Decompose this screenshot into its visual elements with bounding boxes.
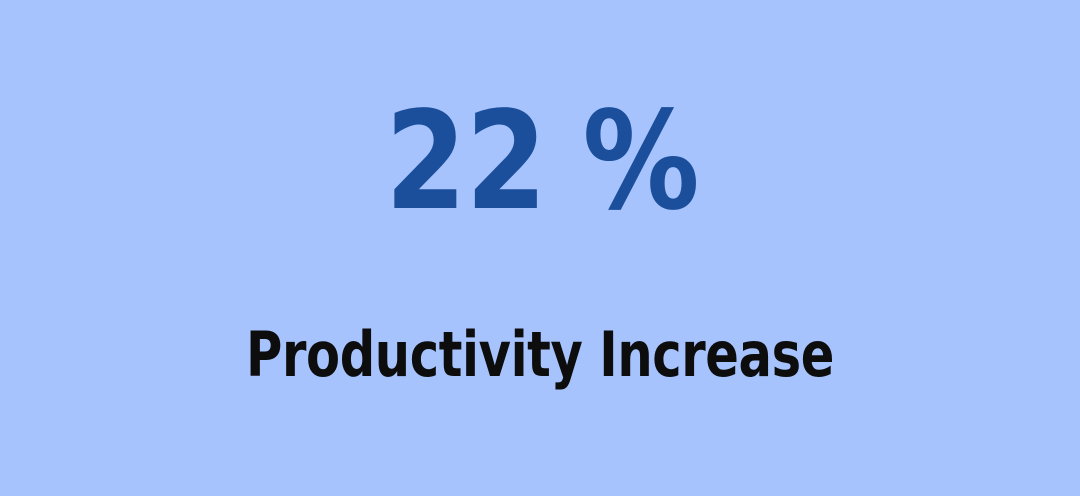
- stat-value: 22 %: [0, 96, 1080, 246]
- stat-value-number: 22: [385, 96, 546, 228]
- stat-label: Productivity Increase: [108, 322, 972, 388]
- stat-value-unit: %: [582, 96, 698, 228]
- stat-card: 22 % Productivity Increase: [0, 0, 1080, 496]
